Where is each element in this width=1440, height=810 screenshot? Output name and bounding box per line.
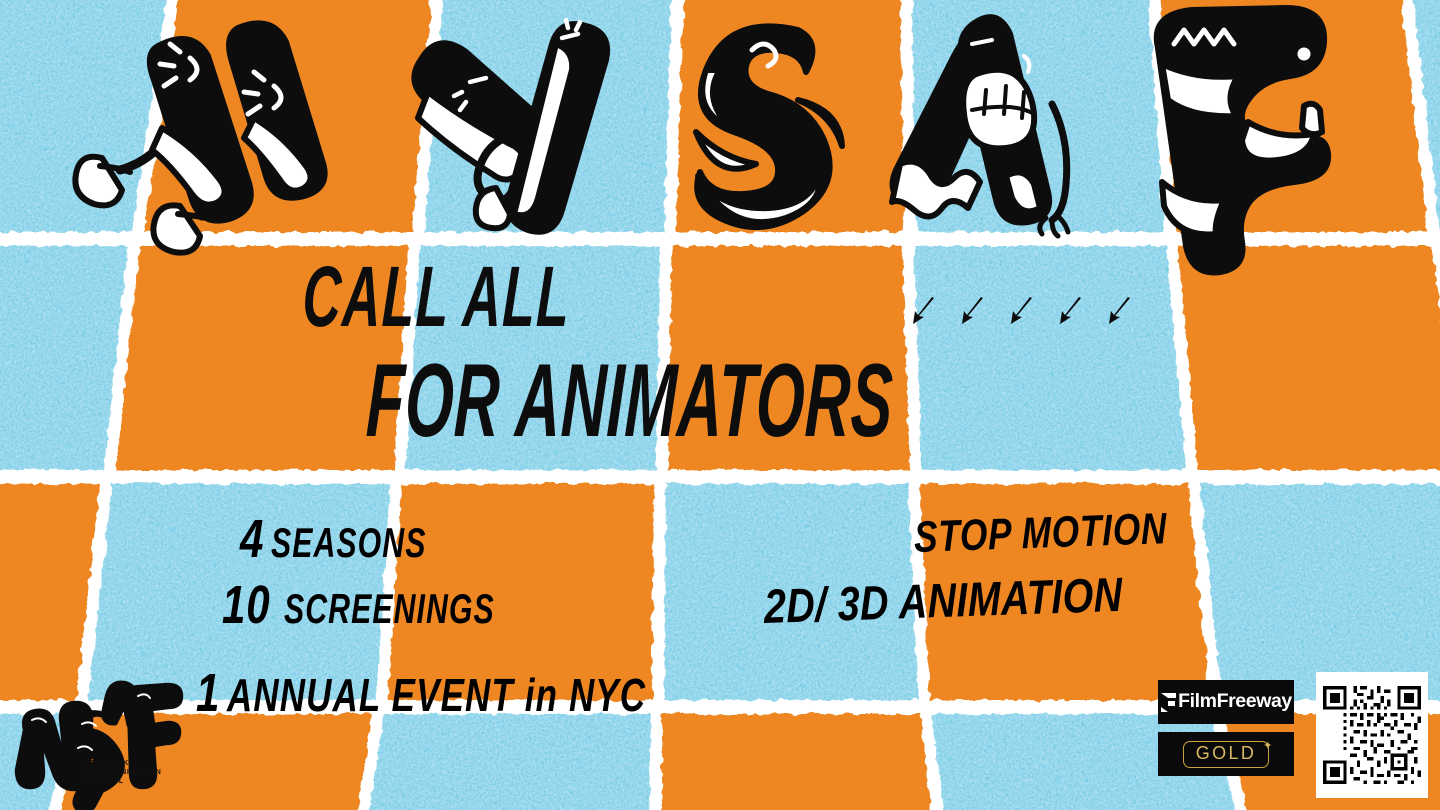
arrow-decoration-group [910, 296, 1132, 326]
letter-f-character [1128, 4, 1348, 234]
nysaf-letter-characters [0, 0, 1440, 250]
arrow-down-left-icon [1057, 296, 1083, 326]
stat-label: ANNUAL EVENT in NYC [227, 672, 646, 718]
headline-block: CALL ALL FOR ANIMATORS [296, 258, 1216, 458]
qr-code-panel[interactable] [1316, 672, 1428, 798]
qr-code-icon[interactable] [1323, 686, 1421, 784]
festival-name-line-1: New York [84, 758, 162, 767]
stat-number: 10 [222, 578, 270, 632]
sparkle-icon: ✦ [1263, 739, 1272, 752]
category-2d-3d-animation: 2D/ 3D ANIMATION [763, 572, 1123, 632]
festival-name-line-2: Short Animation [84, 767, 162, 776]
arrow-down-left-icon [959, 296, 985, 326]
nysaf-logo-mark [8, 666, 188, 810]
festival-name-line-3: Festival [84, 776, 162, 785]
gold-badge[interactable]: GOLD ✦ [1158, 732, 1294, 776]
headline-line-1: CALL ALL [301, 258, 571, 337]
arrow-down-left-icon [1106, 296, 1132, 326]
stat-number: 1 [196, 666, 220, 720]
letter-s-character [668, 14, 868, 229]
festival-stats-list: 4 SEASONS 10 SCREENINGS 1 ANNUAL EVENT i… [196, 512, 779, 732]
arrow-down-left-icon [1008, 296, 1034, 326]
stat-label: SEASONS [271, 522, 426, 564]
gold-label: GOLD [1196, 743, 1257, 763]
stat-number: 4 [240, 512, 264, 566]
filmfreeway-flag-icon [1160, 692, 1177, 713]
stat-item: 10 SCREENINGS [222, 578, 779, 632]
category-stop-motion: STOP MOTION [914, 507, 1168, 560]
stat-label: SCREENINGS [284, 588, 495, 630]
filmfreeway-label: FilmFreeway [1178, 692, 1292, 712]
letter-a-character [856, 8, 1086, 238]
badge-group: FilmFreeway GOLD ✦ [1158, 680, 1294, 776]
letter-n-character [62, 10, 352, 250]
headline-line-2: FOR ANIMATORS [365, 354, 895, 450]
arrow-down-left-icon [910, 296, 936, 326]
letter-y-character [396, 6, 626, 236]
stat-item: 1 ANNUAL EVENT in NYC [196, 666, 779, 720]
stat-item: 4 SEASONS [240, 512, 779, 566]
filmfreeway-badge[interactable]: FilmFreeway [1158, 680, 1294, 724]
festival-name-text: New York Short Animation Festival [84, 758, 162, 785]
poster-canvas: CALL ALL FOR ANIMATORS 4 SEASONS 10 SCRE… [0, 0, 1440, 810]
